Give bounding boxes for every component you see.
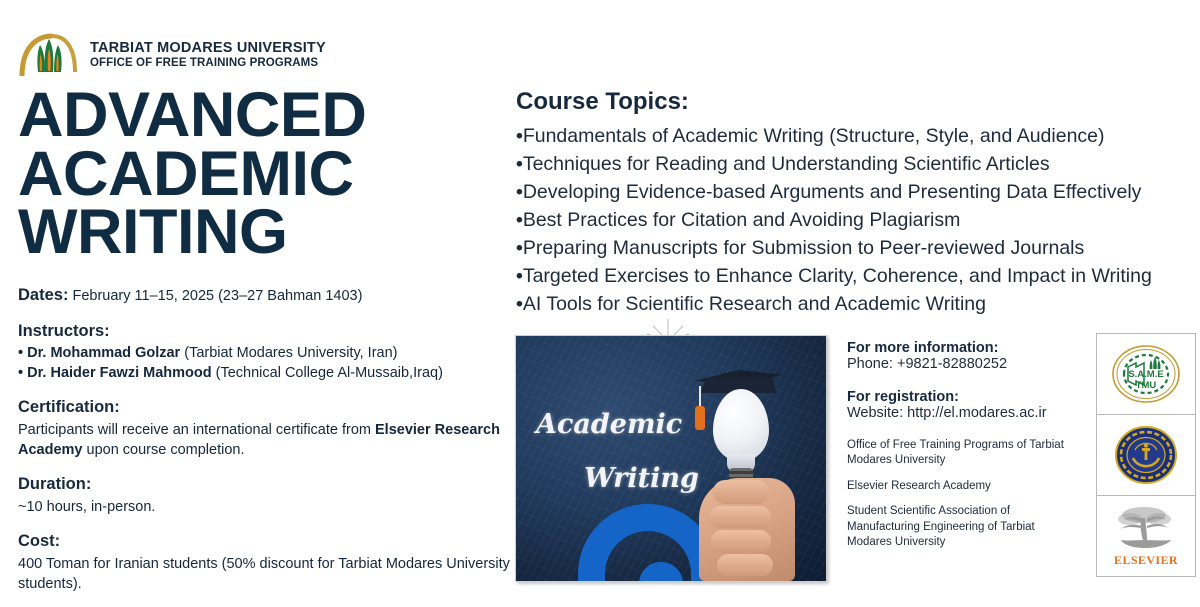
cost-block: Cost: 400 Toman for Iranian students (50… bbox=[18, 530, 518, 594]
topic-item: •AI Tools for Scientific Research and Ac… bbox=[516, 290, 1200, 318]
spacer bbox=[847, 423, 1082, 438]
lightbulb-graduation-illustration bbox=[691, 374, 801, 581]
elsevier-logo-icon: ELSEVIER bbox=[1107, 503, 1185, 569]
cost-value: 400 Toman for Iranian students (50% disc… bbox=[18, 556, 510, 592]
instructor-2: • Dr. Haider Fawzi Mahmood (Technical Co… bbox=[18, 363, 518, 383]
title-line-3: WRITING bbox=[18, 203, 518, 262]
topic-label: Best Practices for Citation and Avoiding… bbox=[523, 209, 961, 231]
topic-label: Techniques for Reading and Understanding… bbox=[523, 153, 1050, 175]
certification-text-end: upon course completion. bbox=[82, 442, 244, 458]
poster-canvas: TARBIAT MODARES UNIVERSITY OFFICE OF FRE… bbox=[0, 0, 1200, 600]
brand-text: TARBIAT MODARES UNIVERSITY OFFICE OF FRE… bbox=[90, 41, 326, 69]
elsevier-wordmark: ELSEVIER bbox=[1114, 553, 1178, 568]
certification-text-start: Participants will receive an internation… bbox=[18, 422, 375, 438]
bullet-icon: • bbox=[516, 237, 523, 259]
course-topics-section: Course Topics: •Fundamentals of Academic… bbox=[516, 88, 1200, 319]
finger bbox=[717, 554, 773, 576]
certification-label: Certification: bbox=[18, 396, 518, 419]
instructor-1-name: • Dr. Mohammad Golzar bbox=[18, 345, 180, 361]
course-details: Dates: February 11–15, 2025 (23–27 Bahma… bbox=[18, 284, 518, 594]
course-topics-heading: Course Topics: bbox=[516, 88, 1200, 116]
tmu-tulip-logo-icon bbox=[18, 32, 80, 78]
spacer bbox=[847, 374, 1082, 389]
instructor-2-name: • Dr. Haider Fawzi Mahmood bbox=[18, 365, 212, 381]
brand-header: TARBIAT MODARES UNIVERSITY OFFICE OF FRE… bbox=[18, 30, 518, 80]
duration-block: Duration: ~10 hours, in-person. bbox=[18, 473, 518, 517]
hand-illustration bbox=[699, 478, 795, 581]
title-line-2: ACADEMIC bbox=[18, 145, 518, 204]
bullet-icon: • bbox=[516, 125, 523, 147]
logo-same-tmu: S.A.M.E TMU bbox=[1096, 333, 1196, 415]
chalk-text-writing: Writing bbox=[584, 463, 699, 494]
organizer-student-association: Student Scientific Association of Manufa… bbox=[847, 504, 1082, 550]
topic-label: Developing Evidence-based Arguments and … bbox=[523, 181, 1142, 203]
tarbiat-modares-university-seal-icon bbox=[1113, 424, 1179, 486]
topic-label: Fundamentals of Academic Writing (Struct… bbox=[523, 125, 1105, 147]
brand-office-name: OFFICE OF FREE TRAINING PROGRAMS bbox=[90, 57, 326, 69]
bullet-icon: • bbox=[516, 265, 523, 287]
same-tmu-logo-icon: S.A.M.E TMU bbox=[1110, 343, 1182, 405]
course-photo: Academic Writing bbox=[515, 335, 827, 582]
logo-tmu-seal bbox=[1096, 414, 1196, 496]
topic-item: •Targeted Exercises to Enhance Clarity, … bbox=[516, 262, 1200, 290]
chalk-text-academic: Academic bbox=[536, 409, 682, 440]
tassel-icon bbox=[699, 386, 701, 408]
topic-label: Targeted Exercises to Enhance Clarity, C… bbox=[523, 265, 1152, 287]
dates-value: February 11–15, 2025 (23–27 Bahman 1403) bbox=[72, 288, 362, 304]
more-information-heading: For more information: bbox=[847, 340, 1082, 356]
left-column: TARBIAT MODARES UNIVERSITY OFFICE OF FRE… bbox=[18, 30, 518, 607]
organizer-elsevier: Elsevier Research Academy bbox=[847, 479, 1082, 494]
instructor-1: • Dr. Mohammad Golzar (Tarbiat Modares U… bbox=[18, 343, 518, 363]
topic-item: •Developing Evidence-based Arguments and… bbox=[516, 178, 1200, 206]
same-acronym: S.A.M.E bbox=[1128, 369, 1163, 380]
duration-label: Duration: bbox=[18, 473, 518, 496]
instructors-label: Instructors: bbox=[18, 320, 518, 343]
registration-website-link[interactable]: Website: http://el.modares.ac.ir bbox=[847, 405, 1082, 421]
logo-elsevier: ELSEVIER bbox=[1096, 495, 1196, 577]
topic-item: •Best Practices for Citation and Avoidin… bbox=[516, 206, 1200, 234]
bullet-icon: • bbox=[516, 153, 523, 175]
lightbulb-glass bbox=[713, 389, 769, 461]
finger bbox=[709, 506, 771, 528]
topic-item: •Techniques for Reading and Understandin… bbox=[516, 150, 1200, 178]
dates-label: Dates: bbox=[18, 286, 68, 304]
cost-label: Cost: bbox=[18, 530, 518, 553]
organizer-office: Office of Free Training Programs of Tarb… bbox=[847, 438, 1082, 469]
title-line-1: ADVANCED bbox=[18, 86, 518, 145]
topic-label: AI Tools for Scientific Research and Aca… bbox=[523, 293, 986, 315]
duration-value: ~10 hours, in-person. bbox=[18, 499, 155, 515]
brand-university-name: TARBIAT MODARES UNIVERSITY bbox=[90, 41, 326, 57]
bullet-icon: • bbox=[516, 209, 523, 231]
finger bbox=[713, 480, 769, 504]
instructors-block: Instructors: • Dr. Mohammad Golzar (Tarb… bbox=[18, 320, 518, 384]
topic-item: •Fundamentals of Academic Writing (Struc… bbox=[516, 122, 1200, 150]
instructor-2-affiliation: (Technical College Al-Mussaib,Iraq) bbox=[216, 365, 443, 381]
registration-heading: For registration: bbox=[847, 389, 1082, 405]
bullet-icon: • bbox=[516, 181, 523, 203]
dates-block: Dates: February 11–15, 2025 (23–27 Bahma… bbox=[18, 284, 518, 307]
instructor-1-affiliation: (Tarbiat Modares University, Iran) bbox=[184, 345, 397, 361]
finger bbox=[711, 530, 771, 552]
page-title: ADVANCED ACADEMIC WRITING bbox=[18, 86, 518, 262]
certification-block: Certification: Participants will receive… bbox=[18, 396, 518, 460]
phone-number[interactable]: Phone: +9821-82880252 bbox=[847, 356, 1082, 372]
same-sub: TMU bbox=[1136, 380, 1157, 391]
logo-stack: S.A.M.E TMU bbox=[1096, 333, 1196, 576]
contact-section: For more information: Phone: +9821-82880… bbox=[847, 340, 1082, 560]
topic-item: •Preparing Manuscripts for Submission to… bbox=[516, 234, 1200, 262]
topic-label: Preparing Manuscripts for Submission to … bbox=[523, 237, 1084, 259]
course-photo-wrapper: Academic Writing bbox=[515, 335, 825, 580]
bullet-icon: • bbox=[516, 293, 523, 315]
